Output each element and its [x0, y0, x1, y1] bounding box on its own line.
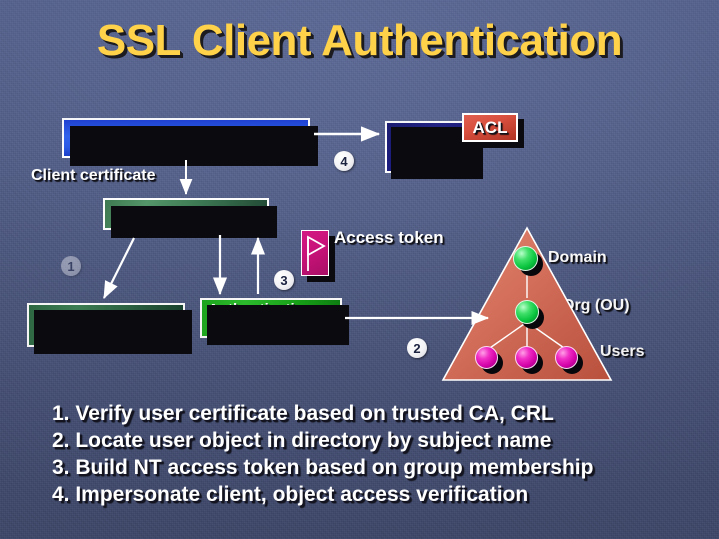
acl-box[interactable]: ACL	[462, 113, 518, 142]
list-item: 4. Impersonate client, object access ver…	[52, 481, 712, 508]
step-badge-2: 2	[407, 338, 427, 358]
step-badge-1: 1	[61, 256, 81, 276]
step-badge-4: 4	[334, 151, 354, 171]
flag-icon	[301, 230, 329, 276]
step-badge-3: 3	[274, 270, 294, 290]
list-item: 3. Build NT access token based on group …	[52, 454, 712, 481]
acl-box-label: ACL	[473, 118, 508, 138]
slide-canvas: SSL Client Authentication	[0, 0, 719, 539]
list-item: 2. Locate user object in directory by su…	[52, 427, 712, 454]
list-item: 1. Verify user certificate based on trus…	[52, 400, 712, 427]
bullet-list: 1. Verify user certificate based on trus…	[52, 400, 712, 508]
